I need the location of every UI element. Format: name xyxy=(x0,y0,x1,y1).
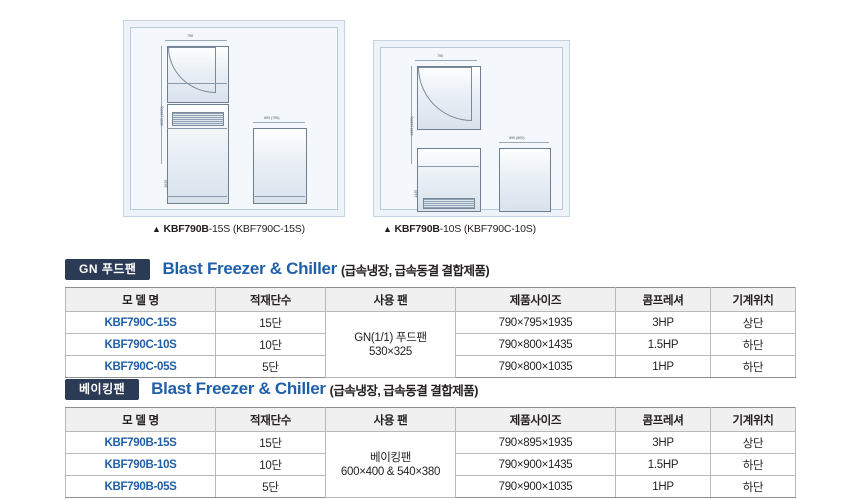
shelf-line-15s xyxy=(167,83,227,84)
figure-panel-15s: 790 1935 (1990) 1935 890 (795) xyxy=(123,20,345,217)
cell-position: 하단 xyxy=(711,334,796,356)
fan-line-2-baking: 600×400 & 540×380 xyxy=(326,465,455,479)
caption-model-bold-15s: KBF790B xyxy=(163,223,208,235)
table-header-row-gn: 모 델 명 적재단수 사용 팬 제품사이즈 콤프레셔 기계위치 xyxy=(66,288,796,312)
cell-position: 하단 xyxy=(711,454,796,476)
cell-size: 790×895×1935 xyxy=(456,432,616,454)
body-divider-10s xyxy=(417,166,479,167)
col-tiers-gn: 적재단수 xyxy=(216,288,326,312)
cell-compressor: 1.5HP xyxy=(616,454,711,476)
dim-line-height-10s xyxy=(411,66,412,164)
spec-table-baking: 모 델 명 적재단수 사용 팬 제품사이즈 콤프레셔 기계위치 KBF790B-… xyxy=(65,407,796,498)
section-tag-baking: 베이킹팬 xyxy=(65,379,139,400)
cell-tiers: 15단 xyxy=(216,432,326,454)
section-title-gn: Blast Freezer & Chiller xyxy=(162,259,337,279)
col-compressor-gn: 콤프레셔 xyxy=(616,288,711,312)
section-tag-gn: GN 푸드팬 xyxy=(65,259,150,280)
caption-triangle-icon-10s: ▲ xyxy=(383,224,392,234)
cell-tiers: 15단 xyxy=(216,312,326,334)
cell-tiers: 5단 xyxy=(216,356,326,378)
cell-compressor: 1HP xyxy=(616,356,711,378)
dim-lower-height-10s: 1435 xyxy=(413,190,418,198)
cell-position: 상단 xyxy=(711,432,796,454)
table-row: KBF790B-15S 15단 베이킹팬 600×400 & 540×380 7… xyxy=(66,432,796,454)
cell-size: 790×795×1935 xyxy=(456,312,616,334)
section-subtitle-gn: (급속냉장, 급속동결 결합제품) xyxy=(341,260,489,279)
dim-lower-height-15s: 1935 xyxy=(163,180,168,188)
section-gn-food-pan: GN 푸드팬 Blast Freezer & Chiller (급속냉장, 급속… xyxy=(65,258,795,378)
fan-line-2-gn: 530×325 xyxy=(326,345,455,359)
col-model-gn: 모 델 명 xyxy=(66,288,216,312)
fan-line-1-gn: GN(1/1) 푸드팬 xyxy=(326,331,455,345)
caption-model-rest-10s: -10S (KBF790C-10S) xyxy=(440,223,536,235)
col-size-baking: 제품사이즈 xyxy=(456,408,616,432)
figure-inner-frame-10s: 790 1435 (1490) 1435 890 (800) xyxy=(380,47,563,210)
col-tiers-baking: 적재단수 xyxy=(216,408,326,432)
product-figures: 790 1935 (1990) 1935 890 (795) ▲ KBF790B… xyxy=(0,10,860,240)
cell-position: 하단 xyxy=(711,476,796,498)
cell-model: KBF790B-15S xyxy=(66,432,216,454)
caption-triangle-icon-15s: ▲ xyxy=(152,224,161,234)
dim-depth-15s: 890 (795) xyxy=(264,115,279,120)
dim-height-15s: 1935 (1990) xyxy=(159,107,164,126)
cell-fan-baking: 베이킹팬 600×400 & 540×380 xyxy=(326,432,456,498)
col-fan-baking: 사용 팬 xyxy=(326,408,456,432)
grille-15s xyxy=(172,112,224,126)
cell-position: 하단 xyxy=(711,356,796,378)
fan-line-1-baking: 베이킹팬 xyxy=(326,451,455,465)
section-subtitle-baking: (급속냉장, 급속동결 결합제품) xyxy=(330,380,478,399)
col-position-gn: 기계위치 xyxy=(711,288,796,312)
dim-height-10s: 1435 (1490) xyxy=(409,117,414,136)
cell-compressor: 1.5HP xyxy=(616,334,711,356)
cell-fan-gn: GN(1/1) 푸드팬 530×325 xyxy=(326,312,456,378)
section-baking-pan: 베이킹팬 Blast Freezer & Chiller (급속냉장, 급속동결… xyxy=(65,378,795,498)
base-line-15s xyxy=(167,196,227,197)
caption-model-rest-15s: -15S (KBF790C-15S) xyxy=(209,223,305,235)
col-compressor-baking: 콤프레셔 xyxy=(616,408,711,432)
col-position-baking: 기계위치 xyxy=(711,408,796,432)
side-base-line-15s xyxy=(253,196,305,197)
figure-caption-10s: ▲ KBF790B-10S (KBF790C-10S) xyxy=(383,223,536,235)
col-size-gn: 제품사이즈 xyxy=(456,288,616,312)
cell-size: 790×900×1435 xyxy=(456,454,616,476)
dim-line-depth-10s xyxy=(499,142,549,143)
cell-model: KBF790B-10S xyxy=(66,454,216,476)
section-header-gn: GN 푸드팬 Blast Freezer & Chiller (급속냉장, 급속… xyxy=(65,258,795,280)
cell-model: KBF790C-10S xyxy=(66,334,216,356)
table-row: KBF790C-15S 15단 GN(1/1) 푸드팬 530×325 790×… xyxy=(66,312,796,334)
cell-size: 790×800×1035 xyxy=(456,356,616,378)
cell-model: KBF790C-05S xyxy=(66,356,216,378)
cell-compressor: 1HP xyxy=(616,476,711,498)
caption-model-bold-10s: KBF790B xyxy=(394,223,439,235)
dim-line-top-15s xyxy=(165,40,227,41)
cell-position: 상단 xyxy=(711,312,796,334)
dim-line-depth-15s xyxy=(253,122,305,123)
grille-10s xyxy=(423,198,475,209)
spec-table-gn: 모 델 명 적재단수 사용 팬 제품사이즈 콤프레셔 기계위치 KBF790C-… xyxy=(65,287,796,378)
dim-depth-10s: 890 (800) xyxy=(509,135,524,140)
cell-tiers: 10단 xyxy=(216,454,326,476)
cell-compressor: 3HP xyxy=(616,432,711,454)
table-header-row-baking: 모 델 명 적재단수 사용 팬 제품사이즈 콤프레셔 기계위치 xyxy=(66,408,796,432)
figure-panel-10s: 790 1435 (1490) 1435 890 (800) xyxy=(373,40,570,217)
dim-line-top-10s xyxy=(415,60,477,61)
section-header-baking: 베이킹팬 Blast Freezer & Chiller (급속냉장, 급속동결… xyxy=(65,378,795,400)
dim-width-15s: 790 xyxy=(187,33,193,38)
figure-caption-15s: ▲ KBF790B-15S (KBF790C-15S) xyxy=(152,223,305,235)
dim-line-height-15s xyxy=(161,46,162,164)
cell-tiers: 10단 xyxy=(216,334,326,356)
cell-model: KBF790B-05S xyxy=(66,476,216,498)
side-view-10s xyxy=(499,148,551,212)
cell-size: 790×800×1435 xyxy=(456,334,616,356)
dim-width-10s: 790 xyxy=(437,53,443,58)
cell-size: 790×900×1035 xyxy=(456,476,616,498)
body-divider-15s xyxy=(167,128,227,129)
figure-inner-frame-15s: 790 1935 (1990) 1935 890 (795) xyxy=(130,27,338,210)
cell-compressor: 3HP xyxy=(616,312,711,334)
cell-model: KBF790C-15S xyxy=(66,312,216,334)
side-view-15s xyxy=(253,128,307,204)
col-fan-gn: 사용 팬 xyxy=(326,288,456,312)
cell-tiers: 5단 xyxy=(216,476,326,498)
col-model-baking: 모 델 명 xyxy=(66,408,216,432)
section-title-baking: Blast Freezer & Chiller xyxy=(151,379,326,399)
